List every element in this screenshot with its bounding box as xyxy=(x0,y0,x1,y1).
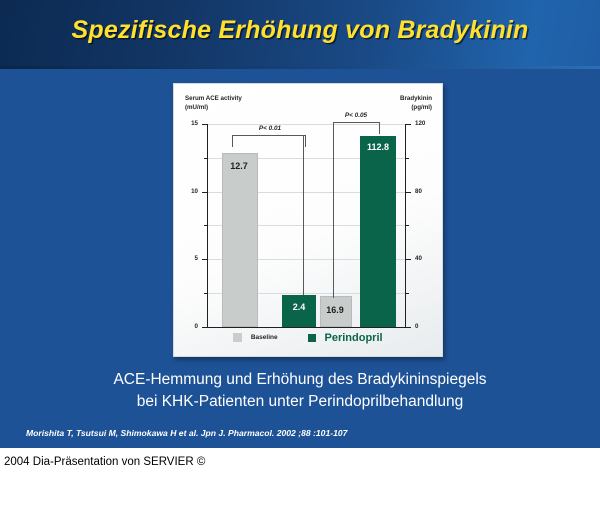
right-axis-line xyxy=(405,124,406,328)
slide-caption: ACE-Hemmung und Erhöhung des Bradykinins… xyxy=(0,369,600,414)
page-title: Spezifische Erhöhung von Bradykinin xyxy=(0,16,600,45)
legend-label-perindopril: Perindopril xyxy=(325,332,383,344)
left-tick-minor xyxy=(204,225,207,226)
chart-legend: Baseline Perindopril xyxy=(174,329,442,347)
left-tick-label-10: 10 xyxy=(182,188,198,195)
p-value-ace: P< 0.01 xyxy=(238,125,302,132)
left-tick-major-10 xyxy=(202,192,207,193)
header-divider xyxy=(0,66,600,69)
right-tick-label-40: 40 xyxy=(415,255,435,262)
bar-label-bradykinin-perindopril: 112.8 xyxy=(360,142,396,152)
legend-item-perindopril: Perindopril xyxy=(308,329,383,347)
right-tick-label-80: 80 xyxy=(415,188,435,195)
significance-bracket-ace xyxy=(232,135,306,147)
left-tick-major-15 xyxy=(202,124,207,125)
presentation-slide: Spezifische Erhöhung von Bradykinin Seru… xyxy=(0,0,600,448)
left-tick-label-5: 5 xyxy=(182,255,198,262)
left-tick-major-5 xyxy=(202,259,207,260)
bar-label-ace-baseline: 12.7 xyxy=(222,161,256,171)
significance-bracket-bradykinin xyxy=(333,122,380,134)
right-tick-label-120: 120 xyxy=(415,120,435,127)
left-tick-minor xyxy=(204,293,207,294)
bar-label-ace-perindopril: 2.4 xyxy=(282,302,316,312)
right-tick-minor xyxy=(406,158,409,159)
citation-reference: Morishita T, Tsutsui M, Shimokawa H et a… xyxy=(26,428,347,438)
left-axis-line xyxy=(207,124,208,328)
plot-area: 15 10 5 0 120 80 40 0 12.7 2.4 P< 0.0 xyxy=(174,84,442,356)
legend-swatch-baseline-icon xyxy=(233,333,242,342)
right-tick-major-40 xyxy=(406,259,411,260)
footer-copyright-text: 2004 Dia-Präsentation von SERVIER © xyxy=(4,456,205,468)
left-tick-label-15: 15 xyxy=(182,120,198,127)
legend-item-baseline: Baseline xyxy=(233,329,277,347)
caption-line-2: bei KHK-Patienten unter Perindoprilbehan… xyxy=(0,391,600,413)
left-tick-minor xyxy=(204,158,207,159)
footer-bar: 2004 Dia-Präsentation von SERVIER © xyxy=(0,448,600,511)
legend-label-baseline: Baseline xyxy=(251,334,278,341)
chart-panel: Serum ACE activity (mU/ml) Bradykinin (p… xyxy=(173,83,443,357)
right-tick-major-120 xyxy=(406,124,411,125)
right-tick-major-80 xyxy=(406,192,411,193)
bar-ace-baseline xyxy=(222,153,258,327)
p-value-bradykinin: P< 0.05 xyxy=(324,112,388,119)
bar-bradykinin-perindopril xyxy=(360,136,396,327)
right-tick-minor xyxy=(406,225,409,226)
caption-line-1: ACE-Hemmung und Erhöhung des Bradykinins… xyxy=(0,369,600,391)
significance-bracket-bradykinin-stem xyxy=(333,122,334,298)
bar-label-bradykinin-baseline: 16.9 xyxy=(318,305,352,315)
significance-bracket-ace-stem xyxy=(303,135,304,295)
right-tick-minor xyxy=(406,293,409,294)
legend-swatch-perindopril-icon xyxy=(308,334,316,342)
